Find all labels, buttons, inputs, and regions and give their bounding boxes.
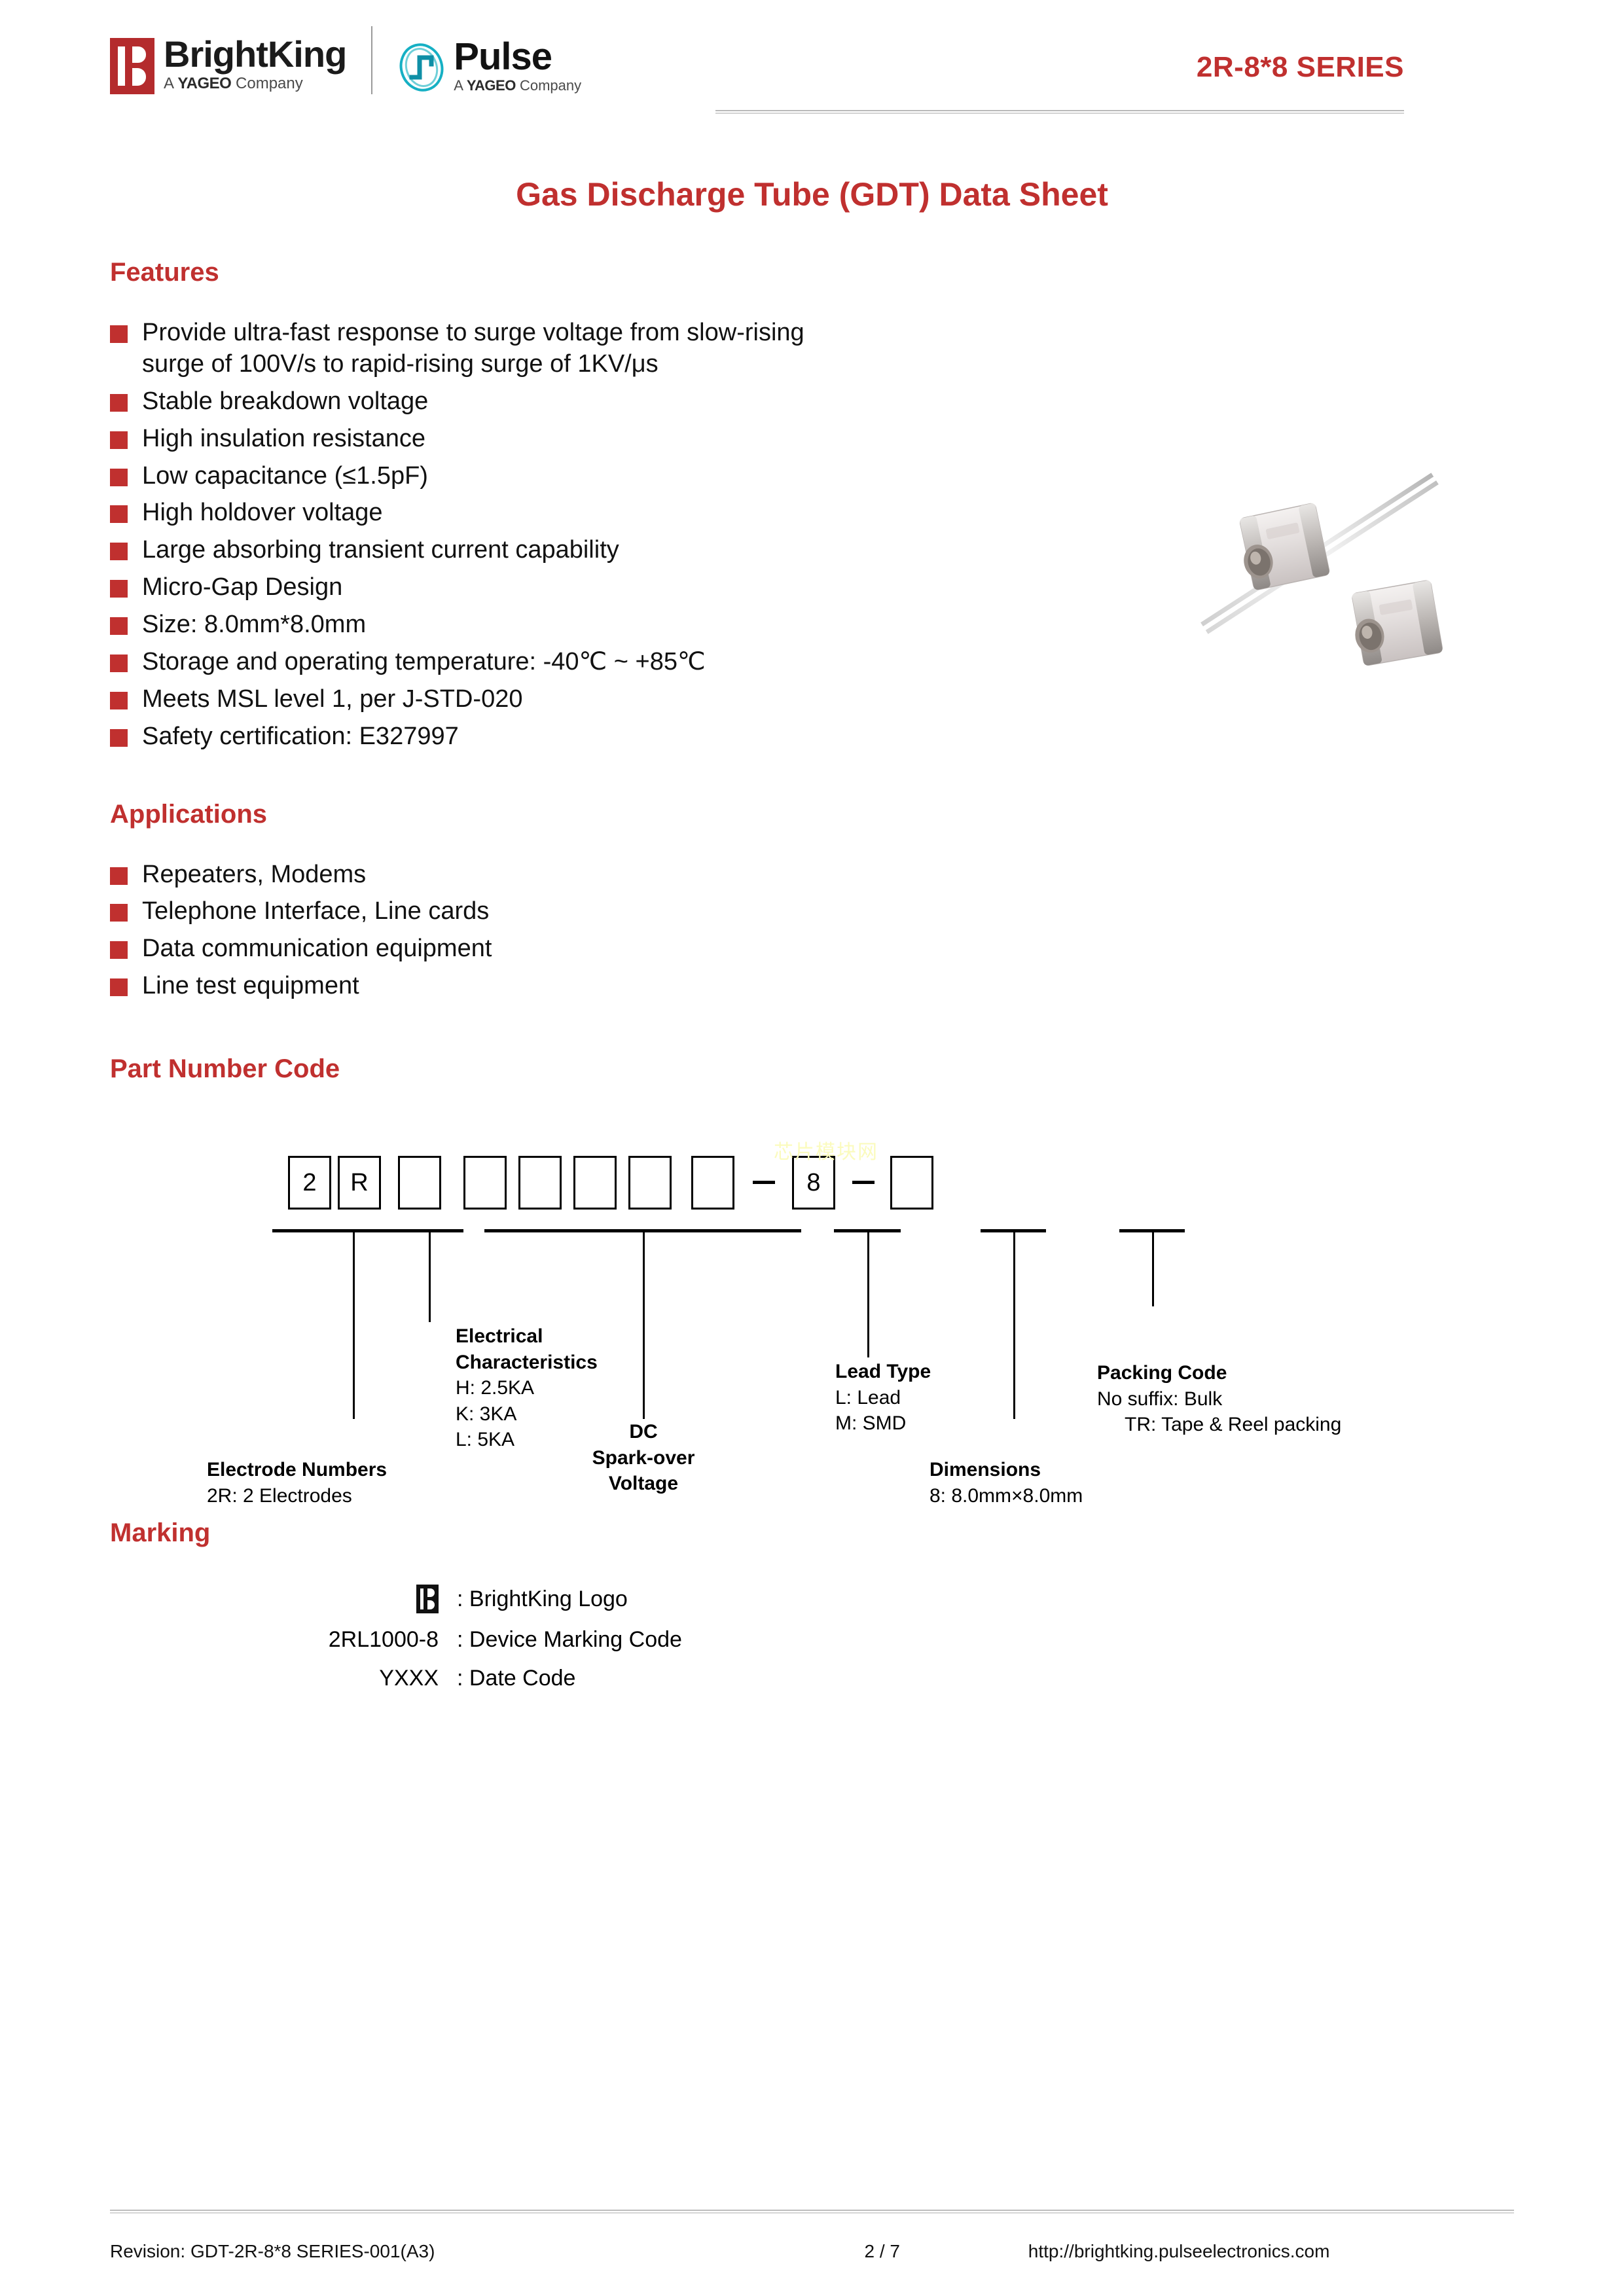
list-item: Provide ultra-fast response to surge vol…: [110, 317, 1514, 380]
pn-drop-electrode: [353, 1229, 355, 1419]
pn-label-electrode-detail: 2R: 2 Electrodes: [207, 1483, 495, 1509]
pn-dash-2: [852, 1181, 875, 1184]
part-number-diagram: 2 R 8: [110, 1110, 1514, 1562]
pn-label-electrical-title-2: Characteristics: [456, 1350, 672, 1376]
list-item-label: Line test equipment: [142, 971, 359, 1002]
list-item-label: Stable breakdown voltage: [142, 386, 428, 418]
bullet-square-icon: [110, 580, 128, 598]
page-header: BrightKing A YAGEO Company Pulse: [110, 0, 1514, 124]
datasheet-page: BrightKing A YAGEO Company Pulse: [0, 0, 1624, 2296]
list-item: Telephone Interface, Line cards: [110, 896, 1514, 927]
bullet-square-icon: [110, 543, 128, 560]
series-title: 2R-8*8 SERIES: [1197, 51, 1404, 84]
list-item-label: High insulation resistance: [142, 423, 425, 455]
marking-left-logo: [110, 1585, 457, 1614]
footer-url[interactable]: http://brightking.pulseelectronics.com: [1009, 2241, 1514, 2262]
pn-label-dimensions: Dimensions 8: 8.0mm×8.0mm: [929, 1457, 1204, 1509]
page-title: Gas Discharge Tube (GDT) Data Sheet: [110, 175, 1514, 213]
pulse-name: Pulse: [454, 38, 581, 76]
list-item-label: Repeaters, Modems: [142, 859, 366, 891]
list-item-text: Provide ultra-fast response to surge vol…: [142, 319, 804, 346]
list-item-label: Micro-Gap Design: [142, 572, 342, 603]
brightking-tagline: A YAGEO Company: [164, 75, 346, 93]
marking-list: : BrightKing Logo 2RL1000-8 : Device Mar…: [110, 1585, 1514, 1691]
pn-label-dc: DC Spark-over Voltage: [558, 1419, 729, 1497]
marking-left-device-code: 2RL1000-8: [110, 1627, 457, 1653]
footer-revision: Revision: GDT-2R-8*8 SERIES-001(A3): [110, 2241, 756, 2262]
pn-box-3: [398, 1156, 441, 1210]
marking-right-logo: : BrightKing Logo: [457, 1587, 628, 1612]
bullet-square-icon: [110, 617, 128, 635]
brightking-tagline-yageo: YAGEO: [177, 75, 231, 92]
applications-heading: Applications: [110, 800, 1514, 829]
pulse-tagline-company: Company: [520, 77, 581, 94]
pn-label-packing-bulk: No suffix: Bulk: [1097, 1386, 1437, 1412]
list-item-label: Meets MSL level 1, per J-STD-020: [142, 684, 522, 715]
list-item-label: Size: 8.0mm*8.0mm: [142, 609, 366, 641]
footer-divider: [110, 2210, 1514, 2214]
pn-label-electrode-title: Electrode Numbers: [207, 1457, 495, 1483]
page-footer: Revision: GDT-2R-8*8 SERIES-001(A3) 2 / …: [110, 2241, 1514, 2262]
list-item: Safety certification: E327997: [110, 721, 1514, 753]
pulse-tagline-yageo: YAGEO: [467, 77, 516, 94]
pulse-tagline-a: A: [454, 77, 462, 94]
list-item-label: Telephone Interface, Line cards: [142, 896, 489, 927]
pn-label-electrical-h: H: 2.5KA: [456, 1375, 672, 1401]
brightking-name: BrightKing: [164, 35, 346, 73]
pn-label-dimensions-title: Dimensions: [929, 1457, 1204, 1483]
pn-box-9: 8: [792, 1156, 835, 1210]
pn-box-6: [573, 1156, 617, 1210]
brightking-tagline-a: A: [164, 75, 173, 92]
footer-page-number: 2 / 7: [756, 2241, 1009, 2262]
brightking-logo: BrightKing A YAGEO Company: [110, 35, 346, 94]
pn-label-lead-type: Lead Type L: Lead M: SMD: [835, 1359, 1032, 1437]
list-item-label: High holdover voltage: [142, 497, 383, 529]
bullet-square-icon: [110, 904, 128, 922]
bullet-square-icon: [110, 505, 128, 523]
pn-box-10: [890, 1156, 933, 1210]
bullet-square-icon: [110, 729, 128, 747]
pulse-logo: Pulse A YAGEO Company: [397, 38, 581, 94]
marking-left-date-code: YXXX: [110, 1666, 457, 1691]
pulse-tagline: A YAGEO Company: [454, 77, 581, 94]
list-item-text-continued: surge of 100V/s to rapid-rising surge of…: [142, 349, 804, 380]
pn-dash-1: [753, 1181, 775, 1184]
pn-label-lead-m: M: SMD: [835, 1410, 1032, 1437]
pn-label-electrode: Electrode Numbers 2R: 2 Electrodes: [207, 1457, 495, 1509]
brightking-logo-icon: [416, 1585, 439, 1613]
list-item-label: Low capacitance (≤1.5pF): [142, 461, 428, 492]
pn-box-2: R: [338, 1156, 381, 1210]
bullet-square-icon: [110, 978, 128, 996]
list-item: Data communication equipment: [110, 933, 1514, 965]
pn-label-electrical-title-1: Electrical: [456, 1323, 672, 1350]
applications-list: Repeaters, Modems Telephone Interface, L…: [110, 859, 1514, 1003]
pn-box-5: [518, 1156, 562, 1210]
bullet-square-icon: [110, 867, 128, 885]
logo-divider: [371, 26, 372, 94]
marking-right-date-code: : Date Code: [457, 1666, 575, 1691]
pn-box-1: 2: [288, 1156, 331, 1210]
list-item-label: Data communication equipment: [142, 933, 492, 965]
marking-row-date-code: YXXX : Date Code: [110, 1666, 1514, 1691]
list-item-label: Storage and operating temperature: -40℃ …: [142, 647, 706, 678]
pn-label-packing-title: Packing Code: [1097, 1360, 1437, 1386]
marking-right-device-code: : Device Marking Code: [457, 1627, 682, 1653]
header-divider: [715, 110, 1404, 114]
bullet-square-icon: [110, 431, 128, 449]
bullet-square-icon: [110, 394, 128, 412]
bullet-square-icon: [110, 469, 128, 486]
pulse-swirl-icon: [397, 42, 446, 93]
bullet-square-icon: [110, 325, 128, 343]
brightking-wordmark: BrightKing A YAGEO Company: [164, 35, 346, 93]
applications-section: Applications Repeaters, Modems Telephone…: [110, 800, 1514, 1003]
marking-row-logo: : BrightKing Logo: [110, 1585, 1514, 1614]
pn-label-dc-3: Voltage: [558, 1471, 729, 1497]
pn-label-dc-2: Spark-over: [558, 1445, 729, 1471]
pn-drop-lead: [867, 1229, 869, 1357]
features-heading: Features: [110, 258, 1514, 287]
pn-label-lead-title: Lead Type: [835, 1359, 1032, 1385]
list-item: Line test equipment: [110, 971, 1514, 1002]
brightking-mark-icon: [110, 38, 154, 94]
part-number-heading: Part Number Code: [110, 1054, 1514, 1084]
pn-drop-electrical: [429, 1229, 431, 1322]
pn-box-4: [463, 1156, 507, 1210]
brightking-tagline-company: Company: [236, 75, 303, 92]
pn-label-dimensions-detail: 8: 8.0mm×8.0mm: [929, 1483, 1204, 1509]
pn-label-lead-l: L: Lead: [835, 1385, 1032, 1411]
bullet-square-icon: [110, 692, 128, 709]
bullet-square-icon: [110, 655, 128, 672]
list-item-label: Provide ultra-fast response to surge vol…: [142, 317, 804, 380]
pn-box-8: [691, 1156, 734, 1210]
pn-label-dc-1: DC: [558, 1419, 729, 1445]
pn-box-7: [628, 1156, 672, 1210]
marking-row-device-code: 2RL1000-8 : Device Marking Code: [110, 1627, 1514, 1653]
logo-group: BrightKing A YAGEO Company Pulse: [110, 0, 581, 94]
part-number-section: Part Number Code 2 R 8: [110, 1054, 1514, 1562]
list-item-label: Large absorbing transient current capabi…: [142, 535, 619, 566]
pn-label-packing: Packing Code No suffix: Bulk TR: Tape & …: [1097, 1360, 1437, 1438]
product-photo: [1141, 398, 1507, 699]
pn-drop-packing: [1152, 1229, 1154, 1306]
pulse-wordmark: Pulse A YAGEO Company: [454, 38, 581, 94]
pn-label-packing-tr: TR: Tape & Reel packing: [1097, 1412, 1437, 1438]
bullet-square-icon: [110, 941, 128, 959]
list-item: Repeaters, Modems: [110, 859, 1514, 891]
list-item-label: Safety certification: E327997: [142, 721, 459, 753]
